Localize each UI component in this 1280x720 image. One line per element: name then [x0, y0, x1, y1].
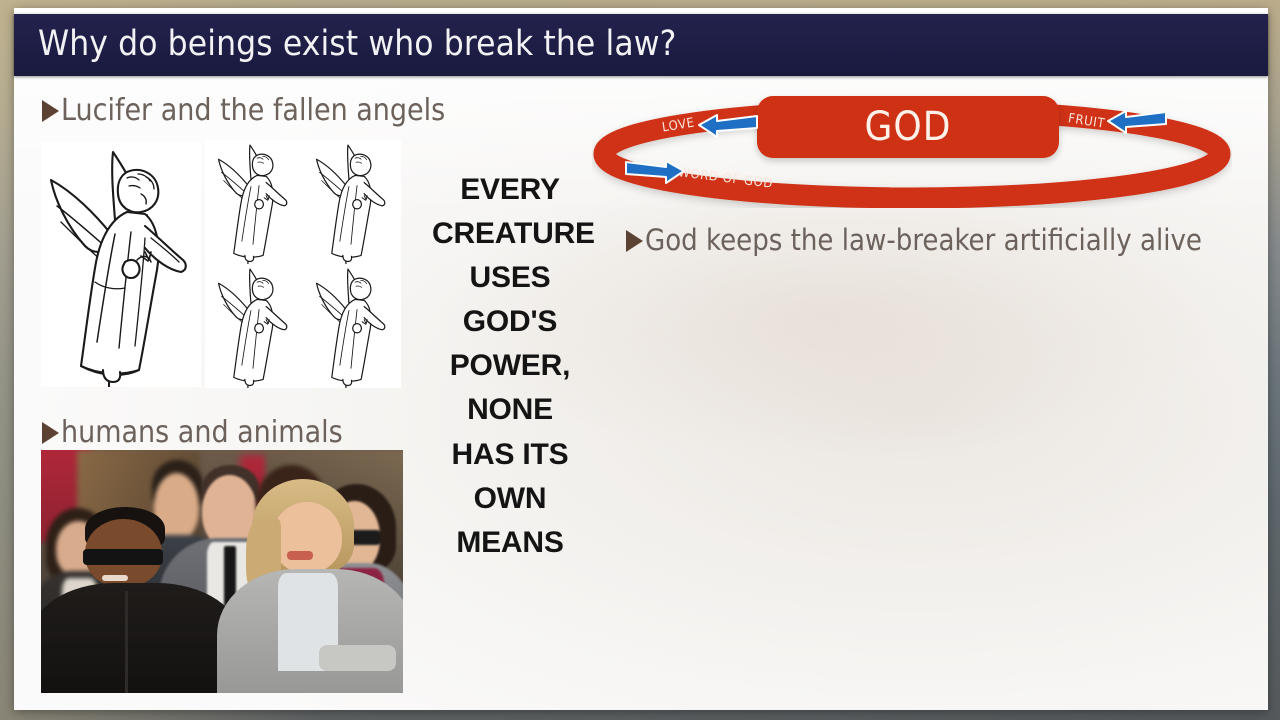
god-cycle-diagram: GOD LOVE FRUIT WORD OF GOD [592, 84, 1232, 208]
photo-person-foreground [52, 503, 219, 693]
angel-illustration-small [205, 140, 303, 264]
god-label: GOD [865, 107, 952, 147]
triangle-bullet-icon [42, 422, 59, 444]
statement-line: OWN [432, 477, 588, 521]
statement-line: USES [432, 256, 588, 300]
angel-illustration-grid [205, 140, 401, 388]
god-center-box: GOD [757, 96, 1059, 158]
triangle-bullet-icon [626, 230, 643, 252]
triangle-bullet-icon [42, 100, 59, 122]
bullet-label: God keeps the law-breaker artificially a… [645, 226, 1202, 255]
arrow-left-icon [1106, 108, 1168, 134]
statement-line: POWER, [432, 344, 588, 388]
slide-title-bar: Why do beings exist who break the law? [14, 14, 1268, 76]
bullet-lucifer-and-fallen-angels: Lucifer and the fallen angels [42, 96, 445, 126]
angel-illustration-small [303, 140, 401, 264]
angel-illustration-small [303, 264, 401, 388]
bullet-god-keeps-law-breaker-alive: God keeps the law-breaker artificially a… [626, 226, 1202, 255]
statement-line: GOD'S [432, 300, 588, 344]
bullet-humans-and-animals: humans and animals [42, 418, 343, 448]
arrow-left-icon [697, 112, 759, 138]
statement-line: MEANS [432, 521, 588, 565]
arrow-right-icon [624, 158, 686, 184]
statement-line: CREATURE [432, 212, 588, 256]
angel-illustration-large [41, 142, 201, 387]
center-statement: EVERY CREATURE USES GOD'S POWER, NONE HA… [432, 168, 588, 565]
statement-line: EVERY [432, 168, 588, 212]
bullet-label: Lucifer and the fallen angels [61, 96, 445, 126]
angel-illustration-small [205, 264, 303, 388]
photo-person-foreground [236, 479, 395, 693]
bullet-label: humans and animals [61, 418, 343, 448]
statement-line: HAS ITS [432, 433, 588, 477]
page-title: Why do beings exist who break the law? [38, 27, 676, 62]
slide-root: Why do beings exist who break the law? L… [0, 0, 1280, 720]
group-of-business-people-photo [41, 450, 403, 693]
statement-line: NONE [432, 388, 588, 432]
